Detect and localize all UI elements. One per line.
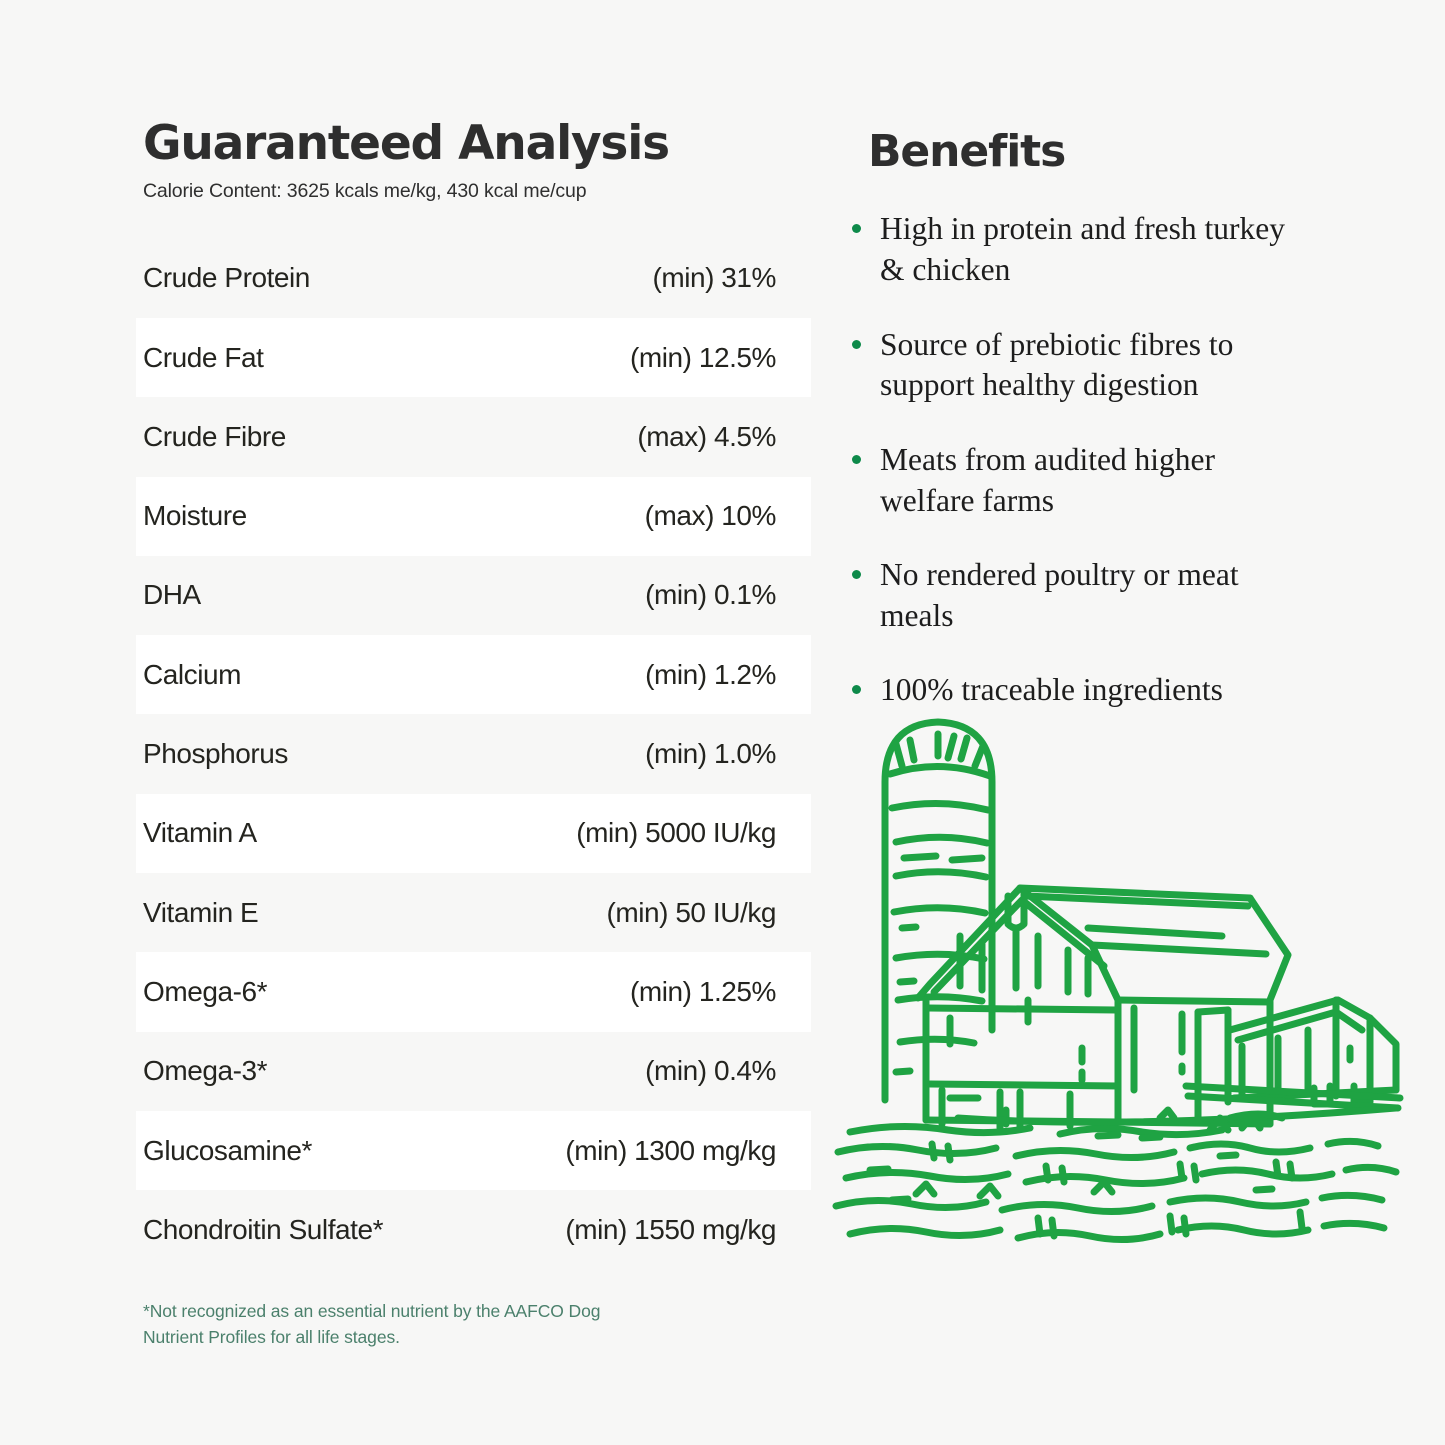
table-row: Moisture (max) 10%	[136, 477, 811, 556]
nutrient-name: Chondroitin Sulfate*	[143, 1214, 383, 1246]
list-item: High in protein and fresh turkey & chick…	[834, 209, 1310, 290]
nutrient-name: Crude Protein	[143, 262, 310, 294]
nutrient-value: (min) 12.5%	[630, 342, 776, 374]
nutrient-name: Glucosamine*	[143, 1135, 312, 1167]
nutrient-value: (min) 50 IU/kg	[606, 897, 776, 929]
nutrient-name: Omega-6*	[143, 976, 267, 1008]
table-row: Crude Fat (min) 12.5%	[136, 318, 811, 397]
nutrient-value: (min) 1550 mg/kg	[565, 1214, 776, 1246]
table-row: Vitamin A (min) 5000 IU/kg	[136, 794, 811, 873]
nutrient-name: Calcium	[143, 659, 241, 691]
nutrient-value: (min) 1.25%	[630, 976, 776, 1008]
benefits-section: Benefits High in protein and fresh turke…	[820, 0, 1445, 1445]
calorie-content-subtitle: Calorie Content: 3625 kcals me/kg, 430 k…	[143, 180, 820, 203]
nutrient-name: Crude Fibre	[143, 421, 286, 453]
guaranteed-analysis-title: Guaranteed Analysis	[143, 118, 820, 171]
table-row: Omega-3* (min) 0.4%	[136, 1032, 811, 1111]
nutrient-name: Omega-3*	[143, 1055, 267, 1087]
list-item: Meats from audited higher welfare farms	[834, 440, 1310, 521]
nutrient-value: (min) 31%	[652, 262, 776, 294]
nutrient-name: Moisture	[143, 500, 247, 532]
nutrition-panel: Guaranteed Analysis Calorie Content: 362…	[0, 0, 1445, 1445]
table-row: Crude Fibre (max) 4.5%	[136, 397, 811, 476]
nutrient-value: (min) 0.1%	[645, 579, 776, 611]
nutrient-value: (max) 4.5%	[637, 421, 776, 453]
benefits-list: High in protein and fresh turkey & chick…	[820, 209, 1445, 711]
nutrient-value: (min) 1.0%	[645, 738, 776, 770]
guaranteed-analysis-section: Guaranteed Analysis Calorie Content: 362…	[0, 0, 820, 1445]
nutrient-value: (min) 1.2%	[645, 659, 776, 691]
list-item: No rendered poultry or meat meals	[834, 555, 1310, 636]
nutrient-name: DHA	[143, 579, 201, 611]
table-row: Omega-6* (min) 1.25%	[136, 952, 811, 1031]
nutrient-name: Vitamin A	[143, 817, 257, 849]
aafco-footnote: *Not recognized as an essential nutrient…	[143, 1299, 663, 1351]
table-row: Calcium (min) 1.2%	[136, 635, 811, 714]
table-row: Crude Protein (min) 31%	[136, 239, 811, 318]
table-row: Vitamin E (min) 50 IU/kg	[136, 873, 811, 952]
benefits-title: Benefits	[868, 128, 1445, 176]
table-row: Glucosamine* (min) 1300 mg/kg	[136, 1111, 811, 1190]
guaranteed-analysis-table: Crude Protein (min) 31% Crude Fat (min) …	[0, 239, 820, 1270]
table-row: DHA (min) 0.1%	[136, 556, 811, 635]
nutrient-name: Vitamin E	[143, 897, 258, 929]
nutrient-name: Crude Fat	[143, 342, 263, 374]
nutrient-value: (min) 5000 IU/kg	[576, 817, 776, 849]
table-row: Phosphorus (min) 1.0%	[136, 714, 811, 793]
nutrient-value: (max) 10%	[645, 500, 776, 532]
list-item: Source of prebiotic fibres to support he…	[834, 325, 1310, 406]
farm-barn-illustration	[830, 700, 1410, 1280]
nutrient-value: (min) 1300 mg/kg	[565, 1135, 776, 1167]
nutrient-value: (min) 0.4%	[645, 1055, 776, 1087]
nutrient-name: Phosphorus	[143, 738, 288, 770]
table-row: Chondroitin Sulfate* (min) 1550 mg/kg	[136, 1190, 811, 1269]
